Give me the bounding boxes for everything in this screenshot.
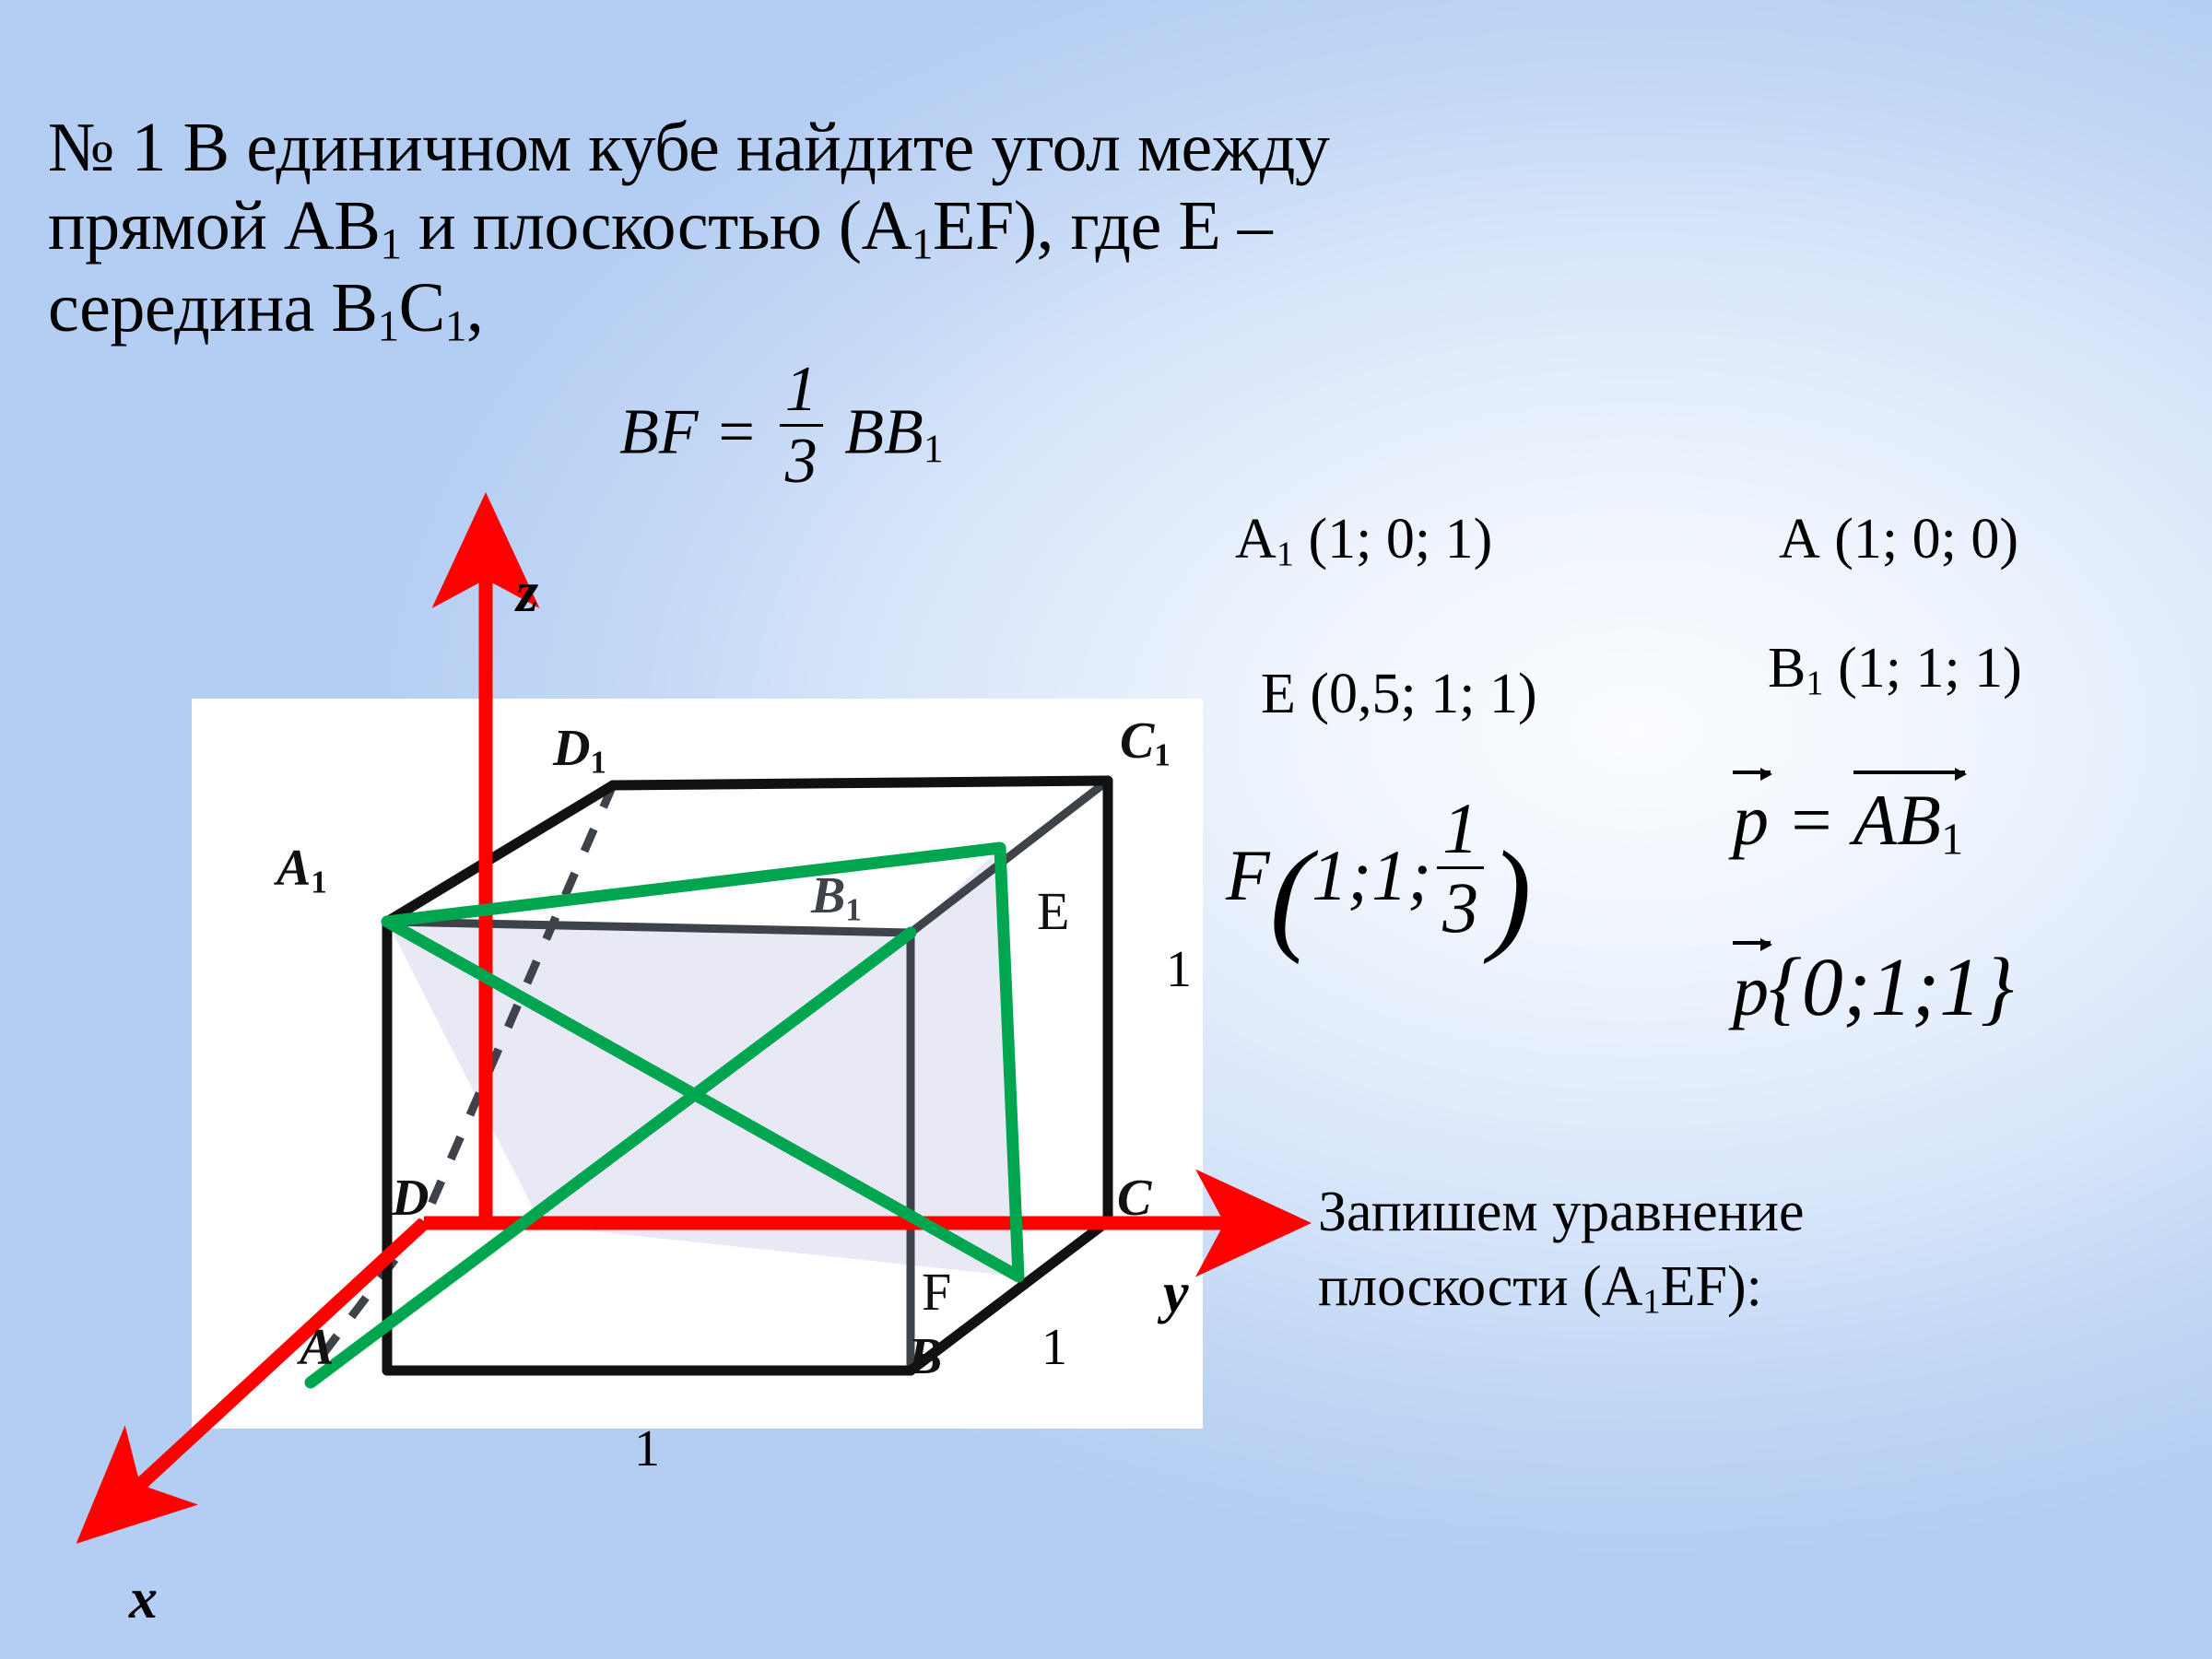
title-line-2-sub-1: 1 xyxy=(380,220,401,268)
vector-AB1-arrow: AB1 xyxy=(1853,779,1963,865)
coordinate-E-name: E xyxy=(1261,663,1296,725)
title-line-3-sub-2: 1 xyxy=(445,303,466,351)
title-line-2-part-c: EF), где E – xyxy=(933,187,1272,265)
title-line-3-part-b: C xyxy=(399,269,445,347)
vector-p-symbol-1: p xyxy=(1733,780,1769,860)
coordinate-A-name: A xyxy=(1779,508,1820,571)
vector-p-arrow-2: p xyxy=(1733,949,1769,1032)
axis-label-x: x xyxy=(129,1567,158,1632)
coordinate-B1-name: B xyxy=(1768,637,1806,700)
coordinate-E: E (0,5; 1; 1) xyxy=(1261,662,1537,727)
vertex-A-letter: A xyxy=(300,1319,334,1376)
coordinate-A1-sub: 1 xyxy=(1277,535,1294,573)
coordinate-F-open-paren: ( xyxy=(1270,846,1312,944)
slide-canvas: № 1 В единичном кубе найдите угол между … xyxy=(0,0,2212,1659)
point-E-letter: E xyxy=(1037,881,1069,941)
vector-AB1-sub: 1 xyxy=(1941,816,1963,865)
axis-label-z: z xyxy=(516,560,538,626)
axis-x-letter: x xyxy=(129,1568,158,1630)
vertex-label-C1: C1 xyxy=(1120,712,1171,774)
vector-arrow-icon xyxy=(1733,771,1771,774)
coordinate-B1: B1 (1; 1; 1) xyxy=(1768,636,2022,703)
point-label-E: E xyxy=(1037,880,1069,942)
dimension-value-1: 1 xyxy=(1166,941,1192,998)
coordinate-A-value: (1; 0; 0) xyxy=(1834,508,2018,571)
axis-z-letter: z xyxy=(516,561,538,624)
vertex-D-letter: D xyxy=(392,1170,429,1227)
coordinate-B1-value: (1; 1; 1) xyxy=(1838,637,2022,700)
vector-arrow-icon xyxy=(1853,771,1965,774)
bf-fraction: 1 3 xyxy=(780,358,823,494)
dimension-label-bottom-right: 1 xyxy=(1041,1318,1067,1377)
vertex-label-A: A xyxy=(300,1318,334,1377)
coordinate-B1-sub: 1 xyxy=(1806,664,1823,702)
vertex-label-C: C xyxy=(1117,1169,1151,1228)
point-F-letter: F xyxy=(922,1262,951,1322)
vector-p-components: {0;1;1} xyxy=(1769,942,2014,1033)
title-line-2-part-a: прямой AB xyxy=(48,187,380,265)
vertex-A1-letter: A xyxy=(276,840,311,897)
coordinate-F-args: 1;1; xyxy=(1312,835,1431,915)
coordinate-F-fraction-denominator: 3 xyxy=(1437,869,1484,944)
coordinate-F-name: F xyxy=(1226,835,1270,915)
vector-AB1-symbol: AB xyxy=(1853,780,1941,860)
vertex-label-B: B xyxy=(908,1327,942,1386)
coordinate-F-close-paren: ) xyxy=(1489,846,1531,944)
coordinate-F-fraction: 13 xyxy=(1437,793,1484,944)
title-line-3-part-c: , xyxy=(466,269,484,347)
bf-equals: = xyxy=(714,397,758,468)
title-line-2: прямой AB1 и плоскостью (A1EF), где E – xyxy=(48,187,1615,269)
vertex-C1-sub: 1 xyxy=(1154,737,1170,773)
coordinate-F-fraction-numerator: 1 xyxy=(1437,793,1484,869)
vector-components-p: p{0;1;1} xyxy=(1733,940,2014,1035)
vertex-B1-sub: 1 xyxy=(845,892,861,928)
vertex-label-A1: A1 xyxy=(276,839,327,901)
axis-y-letter: y xyxy=(1163,1262,1189,1324)
dimension-value-2: 1 xyxy=(1041,1319,1067,1376)
vertex-B1-letter: B xyxy=(811,867,845,924)
note-line-2-sub: 1 xyxy=(1642,1282,1660,1321)
title-line-2-sub-2: 1 xyxy=(912,220,933,268)
vertex-C-letter: C xyxy=(1117,1170,1151,1227)
vertex-A1-sub: 1 xyxy=(311,865,326,900)
vector-p-arrow-1: p xyxy=(1733,779,1769,862)
axis-label-y: y xyxy=(1163,1261,1189,1326)
dimension-label-right: 1 xyxy=(1166,940,1192,999)
vector-p-symbol-2: p xyxy=(1733,950,1769,1030)
note-line-2: плоскости (A1EF): xyxy=(1318,1250,2147,1325)
coordinate-F: F(1;1;13) xyxy=(1226,793,1532,944)
vertex-D1-letter: D xyxy=(553,720,590,777)
bf-rhs-sub: 1 xyxy=(924,427,944,471)
vertex-label-D: D xyxy=(392,1169,429,1228)
page-title: № 1 В единичном кубе найдите угол между … xyxy=(48,109,1615,351)
coordinate-A: A (1; 0; 0) xyxy=(1779,507,2018,572)
coordinate-E-value: (0,5; 1; 1) xyxy=(1310,663,1536,725)
bf-fraction-denominator: 3 xyxy=(780,427,823,494)
vector-arrow-icon xyxy=(1733,941,1771,945)
coordinate-A1-name: A xyxy=(1235,508,1277,571)
note-line-1: Запишем уравнение xyxy=(1318,1175,2147,1250)
vertex-C1-letter: C xyxy=(1120,712,1154,770)
coordinate-A1: A1 (1; 0; 1) xyxy=(1235,507,1492,574)
title-line-3-part-a: середина B xyxy=(48,269,378,347)
dimension-label-bottom-left: 1 xyxy=(634,1419,660,1478)
bf-rhs: BB xyxy=(844,397,924,468)
title-line-3-sub-1: 1 xyxy=(378,303,399,351)
bf-lhs: BF xyxy=(619,397,699,468)
vertex-B-letter: B xyxy=(908,1328,942,1385)
note-line-2-part-a: плоскости (A xyxy=(1318,1255,1642,1318)
bf-equation: BF = 1 3 BB1 xyxy=(619,358,944,494)
vertex-label-B1: B1 xyxy=(811,866,862,929)
bf-fraction-numerator: 1 xyxy=(780,358,823,427)
vector-equals: = xyxy=(1787,780,1836,860)
dimension-value-3: 1 xyxy=(634,1420,660,1477)
title-line-3: середина B1C1, xyxy=(48,269,1615,351)
coordinate-A1-value: (1; 0; 1) xyxy=(1309,508,1493,571)
title-line-2-part-b: и плоскостью (A xyxy=(402,187,912,265)
vector-equation-p-equals-AB1: p = AB1 xyxy=(1733,779,1963,865)
title-line-1: № 1 В единичном кубе найдите угол между xyxy=(48,109,1615,187)
note-line-2-part-b: EF): xyxy=(1661,1255,1762,1318)
point-label-F: F xyxy=(922,1261,951,1323)
vertex-D1-sub: 1 xyxy=(590,745,606,781)
plane-equation-note: Запишем уравнение плоскости (A1EF): xyxy=(1318,1175,2147,1325)
vertex-label-D1: D1 xyxy=(553,719,606,782)
